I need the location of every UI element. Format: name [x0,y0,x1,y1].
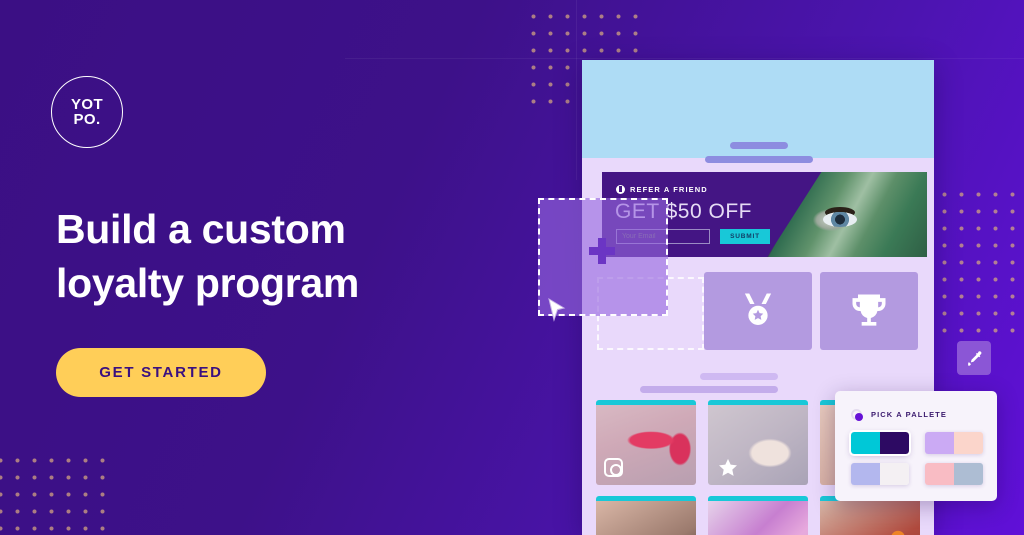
palette-panel-title: PICK A PALLETE [871,410,947,419]
reward-tile-medal[interactable] [704,272,812,350]
swatch-color [880,463,909,485]
gift-icon [616,185,625,194]
dot-pattern-right [936,186,1024,344]
page-title: Build a custom loyalty program [56,202,486,310]
eyedropper-button[interactable] [957,341,991,375]
eyedropper-icon [966,350,983,367]
medal-icon [737,288,779,334]
plus-icon [589,238,615,264]
swatch-color [880,432,909,454]
banner-photo [767,172,927,257]
palette-swatch[interactable] [925,463,983,485]
logo-line-2: PO. [73,112,100,127]
swatch-color [954,463,983,485]
yotpo-logo: YOT PO. [51,76,123,148]
gallery-item[interactable] [708,496,808,535]
gallery-item[interactable] [596,496,696,535]
gallery-image [820,501,920,535]
placeholder-bar [640,386,778,393]
radio-icon[interactable] [851,409,862,420]
star-icon [717,457,739,479]
refer-a-friend-badge: REFER A FRIEND [616,185,708,194]
palette-swatch[interactable] [925,432,983,454]
placeholder-bar [700,373,778,380]
refer-badge-label: REFER A FRIEND [630,185,708,194]
palette-panel: PICK A PALLETE [835,391,997,501]
dot-pattern-bottom-left [0,452,114,535]
placeholder-bar [705,156,813,163]
gallery-image [596,501,696,535]
gallery-item[interactable] [820,496,920,535]
gallery-item[interactable] [708,400,808,485]
hero-banner: YOT PO. Build a custom loyalty program G… [0,0,1024,535]
swatch-color [954,432,983,454]
headline-line-2: loyalty program [56,256,486,310]
swatch-color [925,432,954,454]
placeholder-bar [730,142,788,149]
instagram-icon [604,458,623,477]
swatch-color [851,432,880,454]
gallery-item[interactable] [596,400,696,485]
guide-line-horizontal [345,58,1024,59]
gallery-image [708,501,808,535]
palette-swatch[interactable] [851,463,909,485]
headline-line-1: Build a custom [56,202,486,256]
cursor-arrow-icon [548,298,566,322]
trophy-icon [847,289,891,333]
reward-tile-trophy[interactable] [820,272,918,350]
palette-swatch[interactable] [851,432,909,454]
logo-line-1: YOT [71,97,103,112]
swatch-color [925,463,954,485]
palette-panel-header: PICK A PALLETE [851,409,947,420]
swatch-color [851,463,880,485]
get-started-button[interactable]: GET STARTED [56,348,266,397]
submit-button[interactable]: SUBMIT [720,229,770,244]
